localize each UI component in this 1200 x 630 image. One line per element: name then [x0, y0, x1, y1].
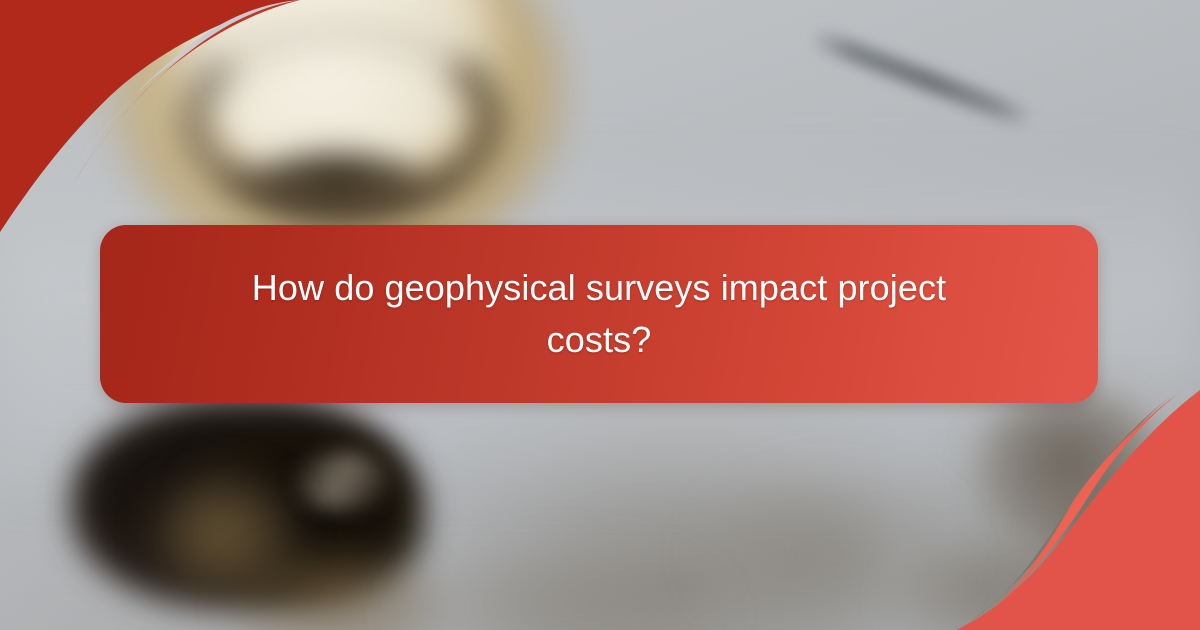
dark-bag-glint — [296, 452, 388, 510]
question-text: How do geophysical surveys impact projec… — [229, 262, 969, 366]
image-canvas: How do geophysical surveys impact projec… — [0, 0, 1200, 630]
question-card: How do geophysical surveys impact projec… — [100, 225, 1098, 403]
desk-clutter-blur-d — [700, 470, 960, 630]
straw-hat-band-shadow — [252, 152, 422, 212]
